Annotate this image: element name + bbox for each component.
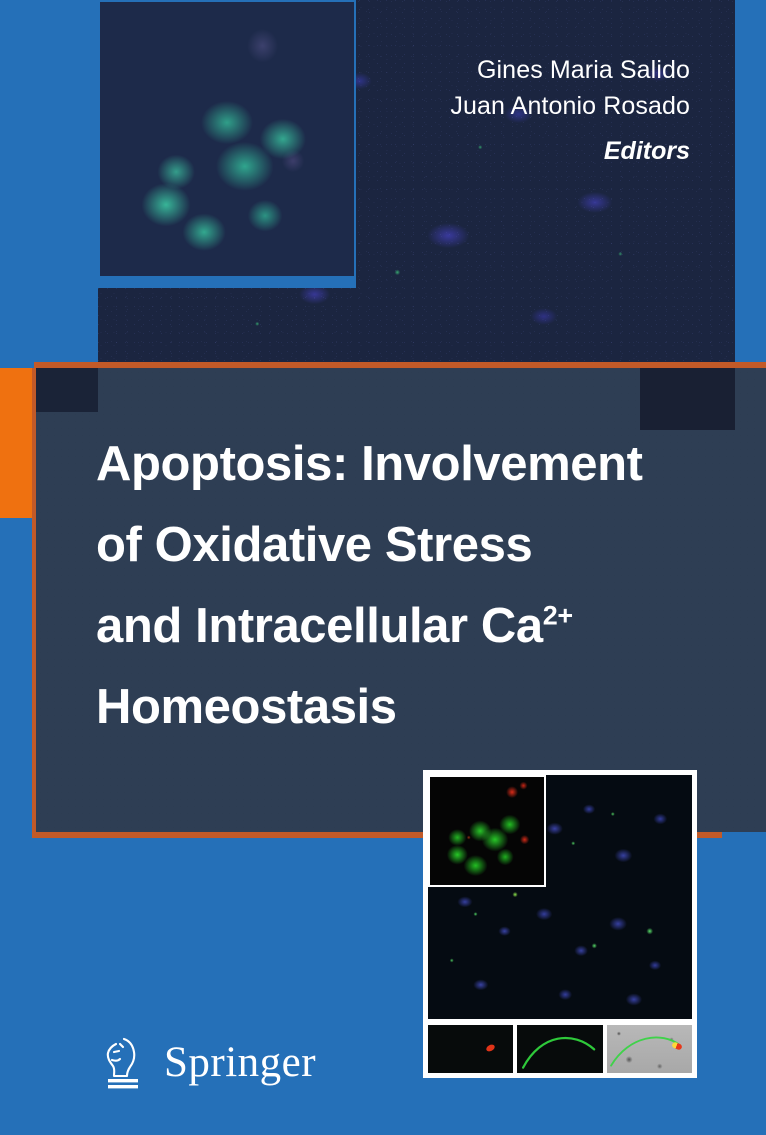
title-line-4: Homeostasis <box>96 667 736 748</box>
collage-strip-red-particle <box>428 1025 513 1073</box>
title-line-3: and Intracellular Ca2+ <box>96 586 736 667</box>
book-cover: Gines Maria Salido Juan Antonio Rosado E… <box>0 0 766 1135</box>
editors-role-label: Editors <box>380 134 690 168</box>
micrograph-collage <box>423 770 697 1078</box>
red-particle-marker <box>485 1043 496 1053</box>
springer-knight-icon <box>100 1035 146 1089</box>
collage-strip-green-arc <box>517 1025 602 1073</box>
springer-wordmark: Springer <box>164 1041 316 1084</box>
top-left-micrograph-inset <box>98 0 356 278</box>
title-superscript-charge: 2+ <box>543 601 573 631</box>
page-title: Apoptosis: Involvement of Oxidative Stre… <box>96 424 736 748</box>
collage-strip-brightfield <box>607 1025 692 1073</box>
editors-block: Gines Maria Salido Juan Antonio Rosado E… <box>380 52 690 168</box>
title-line-1: Apoptosis: Involvement <box>96 424 736 505</box>
publisher-logo: Springer <box>100 1032 316 1092</box>
collage-strip-row <box>428 1025 692 1073</box>
title-line-3-text: and Intracellular Ca <box>96 599 543 653</box>
inset-bottom-gutter <box>98 278 356 288</box>
title-line-2: of Oxidative Stress <box>96 505 736 586</box>
panel-corner-shadow-left <box>36 368 98 412</box>
editor-name-2: Juan Antonio Rosado <box>380 88 690 124</box>
inset-left-gutter <box>90 0 98 288</box>
orange-accent-block <box>0 368 32 518</box>
panel-corner-shadow-right <box>640 368 735 430</box>
collage-inset-micrograph <box>428 775 546 887</box>
editor-name-1: Gines Maria Salido <box>380 52 690 88</box>
green-arc-icon <box>517 1025 602 1073</box>
